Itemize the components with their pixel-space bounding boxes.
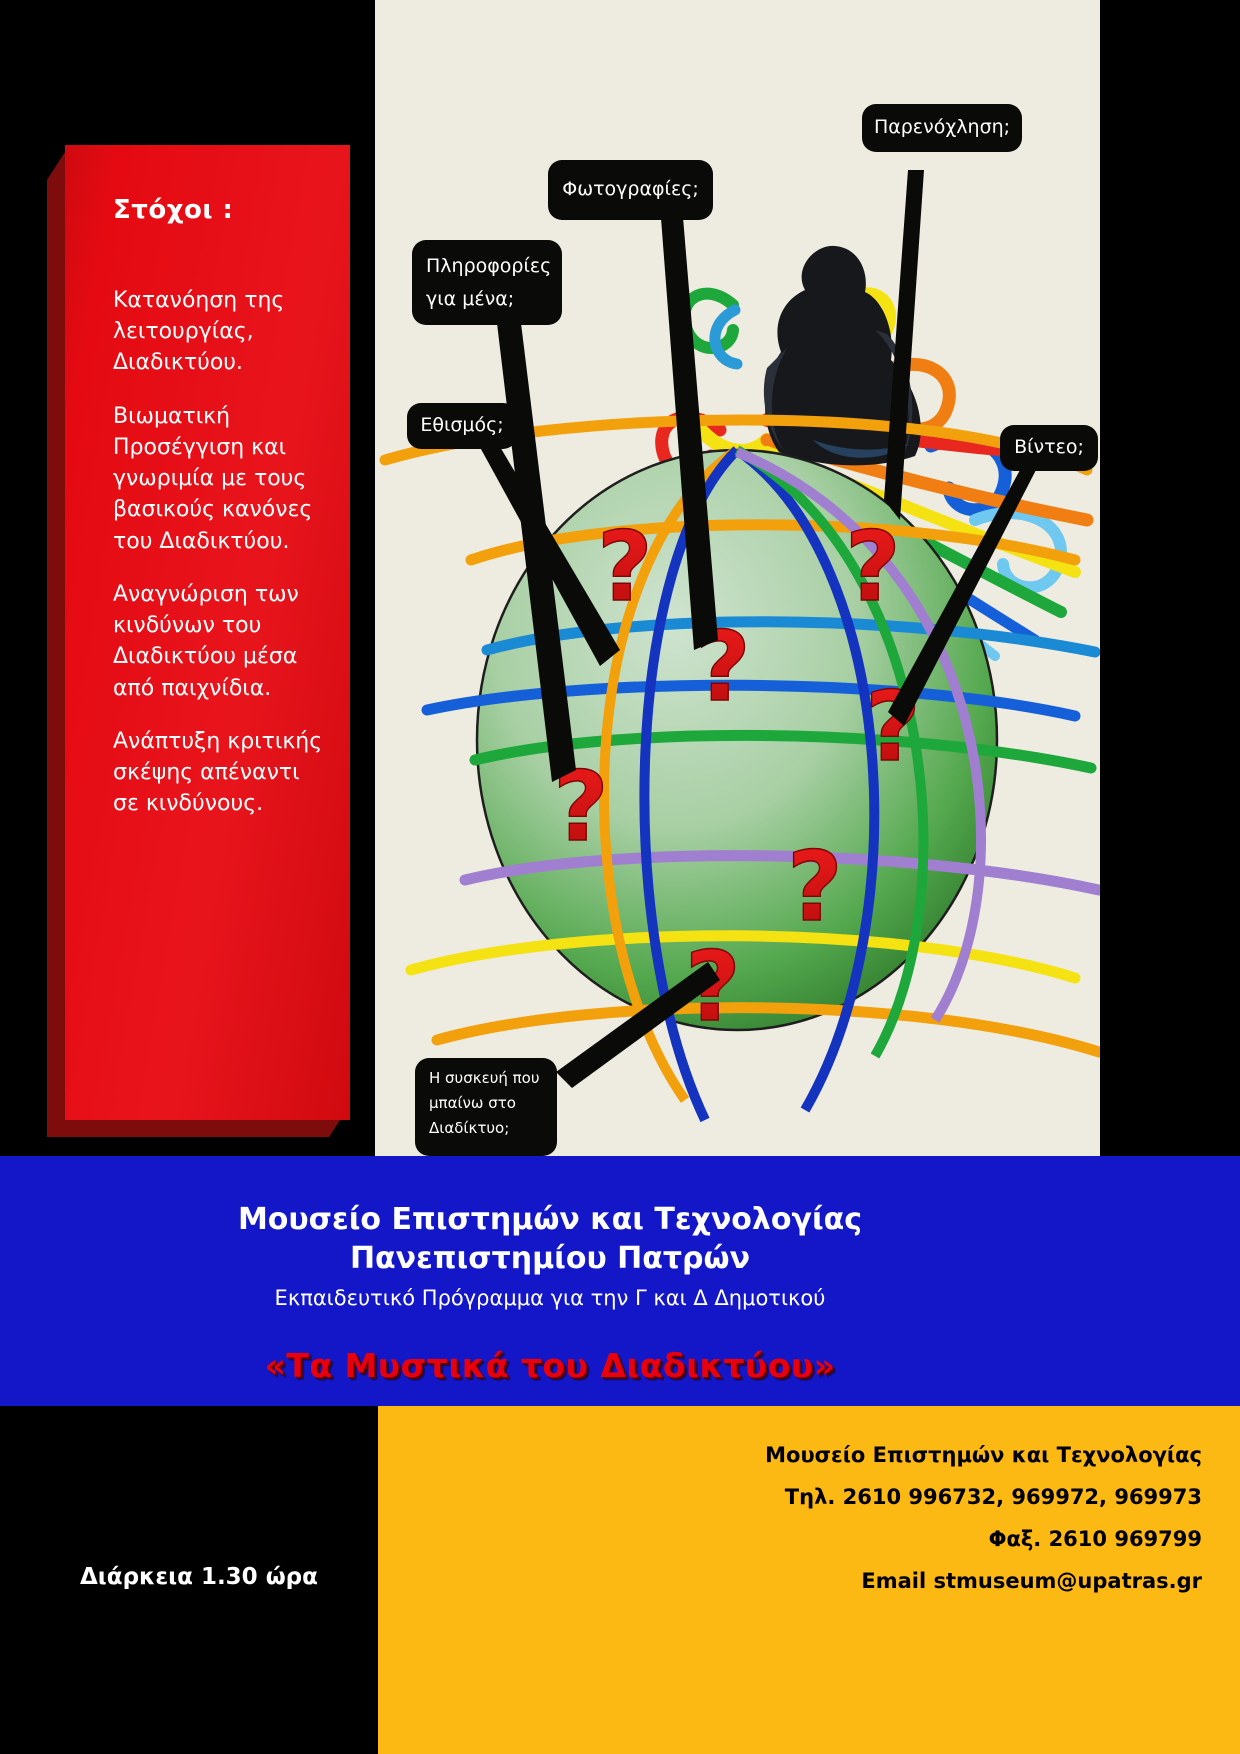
bubble-device[interactable]: Η συσκευή που μπαίνω στο Διαδίκτυο; [415, 1058, 557, 1156]
bubble-harassment-text: Παρενόχληση; [874, 111, 1010, 144]
bubble-info[interactable]: Πληροφορίες για μένα; [412, 240, 562, 325]
bubble-photos[interactable]: Φωτογραφίες; [548, 160, 713, 220]
bubble-photos-text: Φωτογραφίες; [562, 173, 699, 206]
bubble-device-line1: Η συσκευή που [429, 1066, 543, 1091]
bubble-info-line1: Πληροφορίες [426, 250, 548, 283]
bubble-info-line2: για μένα; [426, 283, 548, 316]
contact-fax: Φαξ. 2610 969799 [765, 1518, 1202, 1560]
duration-panel: Διάρκεια 1.30 ώρα [0, 1406, 378, 1754]
contact-email[interactable]: Email stmuseum@upatras.gr [765, 1560, 1202, 1602]
bubble-video-text: Βίντεο; [1014, 431, 1084, 464]
program-title: «Τα Μυστικά του Διαδικτύου» [0, 1346, 1100, 1385]
museum-name: Μουσείο Επιστημών και Τεχνολογίας Πανεπι… [0, 1200, 1100, 1278]
bubble-device-line2: μπαίνω στο [429, 1091, 543, 1116]
museum-banner: Μουσείο Επιστημών και Τεχνολογίας Πανεπι… [0, 1156, 1240, 1406]
bubble-addiction-text: Εθισμός; [420, 409, 503, 442]
museum-name-line1: Μουσείο Επιστημών και Τεχνολογίας [0, 1200, 1100, 1239]
program-subtitle: Εκπαιδευτικό Πρόγραμμα για την Γ και Δ Δ… [0, 1286, 1100, 1310]
duration-text: Διάρκεια 1.30 ώρα [80, 1564, 318, 1590]
tail-photos [660, 205, 718, 650]
contact-phone: Τηλ. 2610 996732, 969972, 969973 [765, 1476, 1202, 1518]
contact-lines: Μουσείο Επιστημών και Τεχνολογίας Τηλ. 2… [765, 1434, 1202, 1602]
contact-panel: Μουσείο Επιστημών και Τεχνολογίας Τηλ. 2… [378, 1406, 1240, 1754]
poster-root: ? ? ? ? ? ? ? Παρενόχληση; Φωτογραφίες; … [0, 0, 1240, 1754]
bubble-harassment[interactable]: Παρενόχληση; [862, 104, 1022, 152]
tail-device [556, 962, 720, 1088]
bubble-device-line3: Διαδίκτυο; [429, 1116, 543, 1141]
contact-museum: Μουσείο Επιστημών και Τεχνολογίας [765, 1434, 1202, 1476]
tail-video [888, 470, 1036, 726]
bubble-addiction[interactable]: Εθισμός; [407, 403, 517, 449]
bubble-video[interactable]: Βίντεο; [1000, 425, 1098, 471]
museum-name-line2: Πανεπιστημίου Πατρών [0, 1239, 1100, 1278]
tail-harassment [884, 170, 924, 520]
